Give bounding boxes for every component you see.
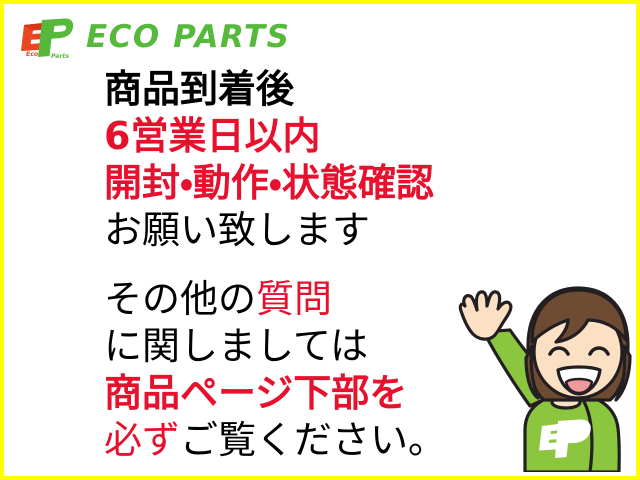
notice-text-segment: ご覧ください。 xyxy=(180,418,446,462)
notice-text-segment-highlight: 必ず xyxy=(104,418,180,462)
notice-text-segment-highlight: 質問 xyxy=(256,277,332,321)
notice-paragraph-one: 商品到着後 6営業日以内 開封・動作・状態確認 お願い致します xyxy=(104,66,564,254)
notice-text-segment: その他の xyxy=(104,277,256,321)
svg-text:Eco: Eco xyxy=(26,51,39,58)
notice-text-segment: 商品ページ下部を xyxy=(104,371,407,415)
notice-line: お願い致します xyxy=(104,207,564,254)
notice-line: 6営業日以内 xyxy=(104,113,564,160)
svg-text:Parts: Parts xyxy=(51,52,69,59)
notice-text-segment: お願い致します xyxy=(104,208,370,252)
ep-monogram-icon: Eco Parts xyxy=(18,15,76,59)
notice-text-segment: 6営業日以内 xyxy=(104,114,320,158)
notice-line: に関しましては xyxy=(104,323,524,370)
brand-logo: Eco Parts ECO PARTS xyxy=(18,12,290,62)
notice-line: その他の質問 xyxy=(104,276,524,323)
notice-text-segment: に関しましては xyxy=(104,324,368,368)
notice-line: 商品ページ下部を xyxy=(104,370,524,417)
notice-line: 必ずご覧ください。 xyxy=(104,417,524,464)
notice-banner: Eco Parts ECO PARTS 商品到着後 6営業日以内 開封・動作・状… xyxy=(0,0,640,480)
notice-text-segment: 開封・動作・状態確認 xyxy=(104,161,434,205)
brand-wordmark: ECO PARTS xyxy=(86,22,290,53)
notice-line: 開封・動作・状態確認 xyxy=(104,160,564,207)
notice-text-segment: 商品到着後 xyxy=(104,67,294,111)
ep-monogram-icon xyxy=(539,419,591,458)
notice-paragraph-two: その他の質問 に関しましては 商品ページ下部を 必ずご覧ください。 xyxy=(104,276,524,464)
notice-line: 商品到着後 xyxy=(104,66,564,113)
